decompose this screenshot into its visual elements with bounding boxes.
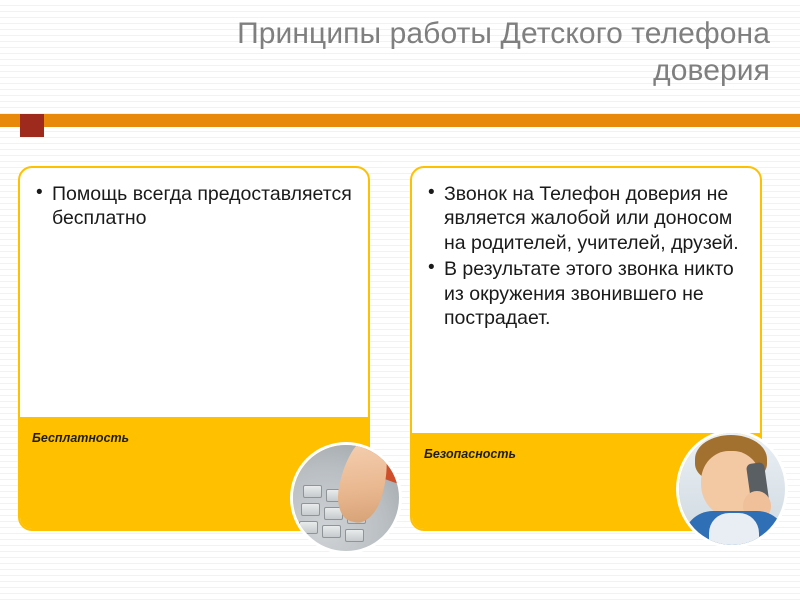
- bullet-list-left: Помощь всегда предоставляется бесплатно: [34, 182, 354, 231]
- list-item: Звонок на Телефон доверия не является жа…: [426, 182, 746, 255]
- accent-band-square: [20, 114, 44, 137]
- phone-keypad-photo: [290, 442, 402, 554]
- card-body-left: Помощь всегда предоставляется бесплатно: [20, 168, 368, 417]
- boy-illustration: [679, 433, 785, 545]
- card-label-left: Бесплатность: [32, 431, 129, 445]
- list-item: Помощь всегда предоставляется бесплатно: [34, 182, 354, 231]
- accent-band: [0, 114, 800, 132]
- bullet-list-right: Звонок на Телефон доверия не является жа…: [426, 182, 746, 330]
- accent-band-orange-left: [0, 114, 20, 127]
- card-body-right: Звонок на Телефон доверия не является жа…: [412, 168, 760, 433]
- keypad-illustration: [293, 445, 399, 551]
- boy-on-phone-photo: [676, 430, 788, 548]
- accent-band-orange: [0, 114, 800, 127]
- list-item: В результате этого звонка никто из окруж…: [426, 257, 746, 330]
- page-title: Принципы работы Детского телефона довери…: [150, 16, 770, 89]
- hand-shape: [331, 442, 394, 527]
- card-label-right: Безопасность: [424, 447, 516, 461]
